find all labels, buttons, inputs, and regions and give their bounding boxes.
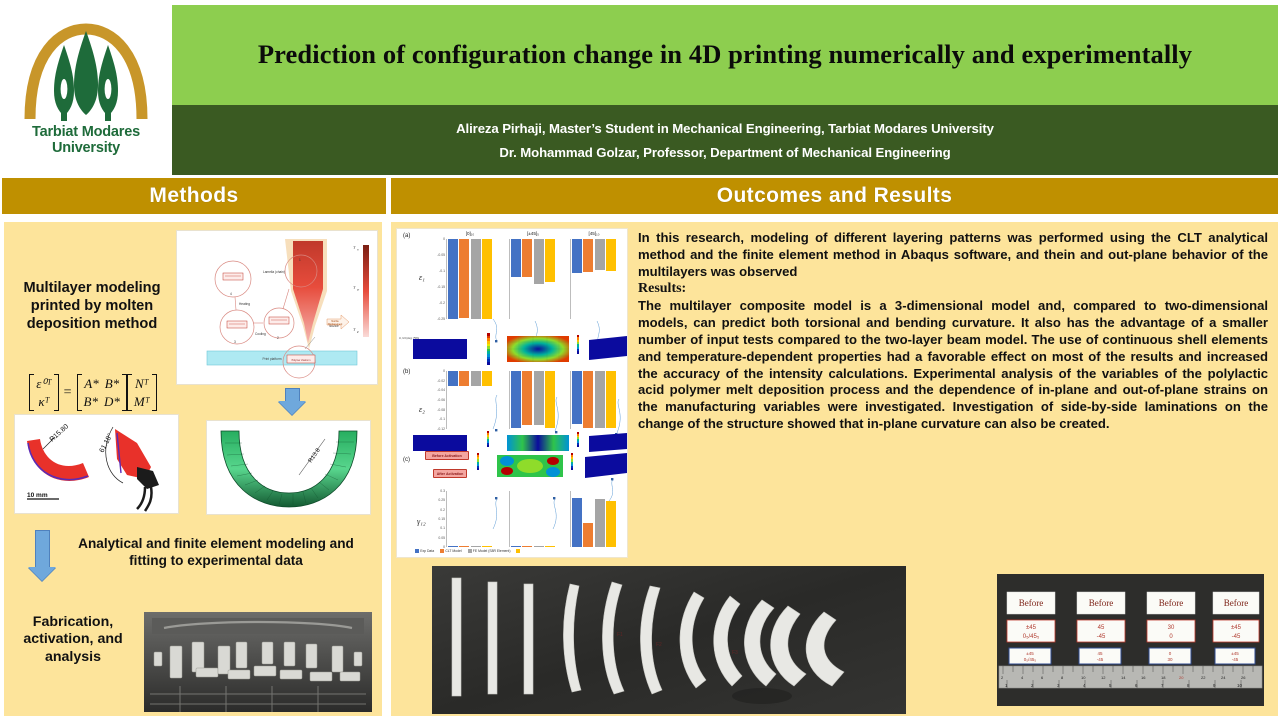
bar xyxy=(471,371,481,386)
bar xyxy=(572,371,582,424)
svg-text:-45: -45 xyxy=(1232,657,1239,662)
svg-text:10: 10 xyxy=(1081,675,1086,680)
svg-text:10 mm: 10 mm xyxy=(27,492,48,499)
panel-c-tag: (c) xyxy=(403,457,410,463)
svg-text:Print platform: Print platform xyxy=(263,357,282,361)
svg-text:4: 4 xyxy=(230,292,232,296)
panel-c-chart-1 xyxy=(509,491,555,547)
contour-colorbar-3 xyxy=(487,431,489,455)
specimen-series-photo: F1F2F3 xyxy=(432,566,906,714)
bar xyxy=(522,546,532,547)
svg-text:24: 24 xyxy=(1221,675,1226,680)
svg-text:-45: -45 xyxy=(1097,657,1104,662)
contour-colorbar-5 xyxy=(477,453,479,479)
svg-text:3: 3 xyxy=(234,340,236,344)
bar xyxy=(534,546,544,547)
methods-caption-3: Fabrication, activation, and analysis xyxy=(8,614,138,666)
title-banner: Prediction of configuration change in 4D… xyxy=(172,5,1278,105)
svg-text:-45: -45 xyxy=(1232,634,1241,640)
legend-swatch-fe-sc8r xyxy=(516,549,520,553)
legend-entry-fe-s8r: FE Model (S8R Element) xyxy=(468,549,511,553)
contour-twist xyxy=(495,451,565,481)
bar xyxy=(511,371,521,428)
results-paragraph-2: The multilayer composite model is a 3-di… xyxy=(638,298,1268,433)
legend-swatch-clt-model xyxy=(440,549,444,553)
svg-text:F3: F3 xyxy=(732,650,738,656)
svg-text:12: 12 xyxy=(1101,675,1106,680)
author-line-2: Dr. Mohammad Golzar, Professor, Departme… xyxy=(499,145,950,160)
svg-text:±45: ±45 xyxy=(1026,651,1034,656)
labeled-specimens-photo-wrap: Before ±45 0₅/45₅ ±45 0₅/45₅ Before 45 -… xyxy=(915,566,1272,714)
author-banner: Alireza Pirhaji, Master’s Student in Mec… xyxy=(172,105,1278,175)
svg-text:Cooling: Cooling xyxy=(255,332,266,336)
logo-line-2: University xyxy=(32,141,140,156)
legend-swatch-exp-data xyxy=(415,549,419,553)
bar xyxy=(471,546,481,547)
svg-text:±45: ±45 xyxy=(1231,625,1242,631)
eq-lhs-top: ε⁰ᵀ xyxy=(36,375,51,393)
contour-bend-1 xyxy=(505,333,571,365)
after-activation-label: After Activation xyxy=(433,469,467,478)
svg-text:Displacement: Displacement xyxy=(328,323,343,326)
bar xyxy=(606,371,616,428)
section-header-outcomes-label: Outcomes and Results xyxy=(717,184,953,208)
section-header-outcomes: Outcomes and Results xyxy=(391,178,1278,214)
svg-text:Polymer chains in: Polymer chains in xyxy=(292,359,312,362)
svg-text:10: 10 xyxy=(1237,683,1243,688)
bar xyxy=(448,371,458,386)
svg-text:±45: ±45 xyxy=(1026,625,1037,631)
legend-entry-exp-data: Exp Data xyxy=(415,549,434,553)
poster-root: Tarbiat Modares University Prediction of… xyxy=(0,0,1280,720)
svg-text:45: 45 xyxy=(1098,625,1105,631)
section-header-methods: Methods xyxy=(2,178,386,214)
svg-text:0₅/45₅: 0₅/45₅ xyxy=(1023,634,1040,640)
section-header-methods-label: Methods xyxy=(149,184,238,208)
bar xyxy=(595,499,605,547)
legend-label-exp-data: Exp Data xyxy=(420,549,434,553)
logo-wordmark: Tarbiat Modares University xyxy=(32,125,140,155)
equation-rhs: Nᵀ Mᵀ xyxy=(127,374,157,411)
legend-entry-clt-model: CLT Model xyxy=(440,549,461,553)
university-logo: Tarbiat Modares University xyxy=(0,0,172,175)
legend-swatch-fe-s8r xyxy=(468,549,472,553)
figure-legend: Exp Data CLT Model FE Model (S8R Element… xyxy=(415,549,525,553)
methods-caption-2: Analytical and finite element modeling a… xyxy=(66,536,366,569)
oven-specimen-photo xyxy=(144,612,372,712)
svg-text:30: 30 xyxy=(1168,625,1175,631)
panel-b-chart-2 xyxy=(570,371,616,429)
contour-colorbar-2 xyxy=(577,335,579,363)
labeled-specimens-photo: Before ±45 0₅/45₅ ±45 0₅/45₅ Before 45 -… xyxy=(989,566,1272,714)
svg-text:26: 26 xyxy=(1241,675,1246,680)
methods-caption-1: Multilayer modeling printed by molten de… xyxy=(6,280,178,333)
eq-rhs-top: Nᵀ xyxy=(135,375,149,393)
outcomes-column: (a) ε₁ [0]₁₀ [±45]₅ [45]₁₀ 0-0.05-0.1 -0… xyxy=(391,222,1278,716)
svg-text:22: 22 xyxy=(1201,675,1206,680)
bar xyxy=(482,546,492,547)
panel-b-ylabel: ε₂ xyxy=(419,405,425,414)
bar xyxy=(459,546,469,547)
results-text-block: In this research, modeling of different … xyxy=(634,228,1272,558)
svg-text:Before: Before xyxy=(1224,598,1249,608)
panel-c-ylabel: γ₁₂ xyxy=(417,517,426,526)
author-line-1: Alireza Pirhaji, Master’s Student in Mec… xyxy=(456,121,994,136)
logo-line-1: Tarbiat Modares xyxy=(32,124,140,140)
before-activation-label: Before Activation xyxy=(425,451,469,460)
bar xyxy=(606,501,616,547)
svg-text:20: 20 xyxy=(1179,675,1184,680)
eq-mat-r2c2: D* xyxy=(104,393,120,411)
svg-text:F2: F2 xyxy=(656,642,662,648)
svg-text:14: 14 xyxy=(1121,675,1126,680)
eq-lhs-bottom: κᵀ xyxy=(38,393,49,411)
bar xyxy=(572,498,582,547)
legend-label-fe-s8r: FE Model (S8R Element) xyxy=(473,549,511,553)
svg-text:30: 30 xyxy=(1167,657,1173,662)
bar xyxy=(534,371,544,425)
svg-text:±45: ±45 xyxy=(1231,651,1239,656)
svg-text:cr: cr xyxy=(357,288,359,292)
svg-text:Before: Before xyxy=(1019,598,1044,608)
legend-label-clt-model: CLT Model xyxy=(445,549,461,553)
panel-b-chart-1 xyxy=(509,371,555,429)
bar xyxy=(583,523,593,547)
poster-title: Prediction of configuration change in 4D… xyxy=(258,34,1192,75)
panel-c-yticks: 0.30.250.2 0.150.10.05 0 xyxy=(433,491,445,547)
svg-text:1: 1 xyxy=(299,258,301,262)
contour-colorbar-1 xyxy=(487,333,490,365)
svg-text:Before: Before xyxy=(1159,598,1184,608)
results-composite-figure: (a) ε₁ [0]₁₀ [±45]₅ [45]₁₀ 0-0.05-0.1 -0… xyxy=(396,228,628,558)
svg-text:2: 2 xyxy=(277,336,279,340)
bar xyxy=(583,371,593,428)
contour-colorbar-6 xyxy=(571,453,573,479)
svg-text:18: 18 xyxy=(1161,675,1166,680)
flow-arrow-1-icon xyxy=(278,388,306,415)
svg-text:45: 45 xyxy=(1097,651,1103,656)
bar xyxy=(545,546,555,547)
bar xyxy=(459,371,469,386)
svg-text:Heating: Heating xyxy=(239,302,250,306)
bar xyxy=(511,546,521,547)
eq-rhs-bottom: Mᵀ xyxy=(134,393,150,411)
bar xyxy=(545,371,555,428)
svg-text:F1: F1 xyxy=(617,632,623,638)
fdm-schematic-figure: Print platform 432 1 HeatingCo xyxy=(176,230,378,385)
svg-text:-45: -45 xyxy=(1097,634,1106,640)
eq-mat-r1c1: A* xyxy=(84,375,98,393)
clt-matrix-equation: ε⁰ᵀ κᵀ = A* B* B* D* xyxy=(12,374,174,411)
svg-text:Before: Before xyxy=(1089,598,1114,608)
results-heading: Results: xyxy=(638,280,1268,298)
panel-c-chart-2 xyxy=(570,491,616,547)
bar xyxy=(595,371,605,428)
equation-lhs: ε⁰ᵀ κᵀ xyxy=(29,374,58,411)
svg-text:0₅/45₅: 0₅/45₅ xyxy=(1024,657,1037,662)
results-paragraph-1: In this research, modeling of different … xyxy=(638,230,1268,280)
legend-entry-fe-sc8r xyxy=(516,549,521,553)
equation-abd-matrix: A* B* B* D* xyxy=(77,374,127,411)
fem-curved-mesh-figure: R13.8 xyxy=(206,420,371,515)
bar xyxy=(522,371,532,425)
eq-mat-r2c1: B* xyxy=(84,393,98,411)
methods-column: Multilayer modeling printed by molten de… xyxy=(4,222,382,716)
red-specimen-photo: R15.80 61.18° 10 mm xyxy=(14,414,179,514)
contour-colorbar-4 xyxy=(577,432,579,454)
panel-b-tag: (b) xyxy=(403,369,410,375)
svg-text:Lamella (chain): Lamella (chain) xyxy=(263,270,285,274)
contour-flat-blue-2 xyxy=(587,333,628,363)
contour-legend-1: U, U3 (Avg: 75%) xyxy=(399,337,419,340)
contour-legend-title: U, U3 (Avg: 75%) xyxy=(399,337,419,340)
svg-text:16: 16 xyxy=(1141,675,1146,680)
panel-c-chart-0: 0.30.250.2 0.150.10.05 0 xyxy=(446,491,492,547)
flow-arrow-2-icon xyxy=(28,530,56,581)
bar xyxy=(482,371,492,386)
cypress-tree-arch-logo-icon xyxy=(20,19,152,123)
eq-mat-r1c2: B* xyxy=(105,375,119,393)
bar xyxy=(448,546,458,547)
eq-equals: = xyxy=(64,385,72,401)
panel-b-chart-0: 0-0.02-0.04 -0.06-0.08-0.1 -0.12 xyxy=(446,371,492,429)
panel-b-yticks: 0-0.02-0.04 -0.06-0.08-0.1 -0.12 xyxy=(433,371,445,429)
contour-flat-blue-5 xyxy=(583,451,628,481)
